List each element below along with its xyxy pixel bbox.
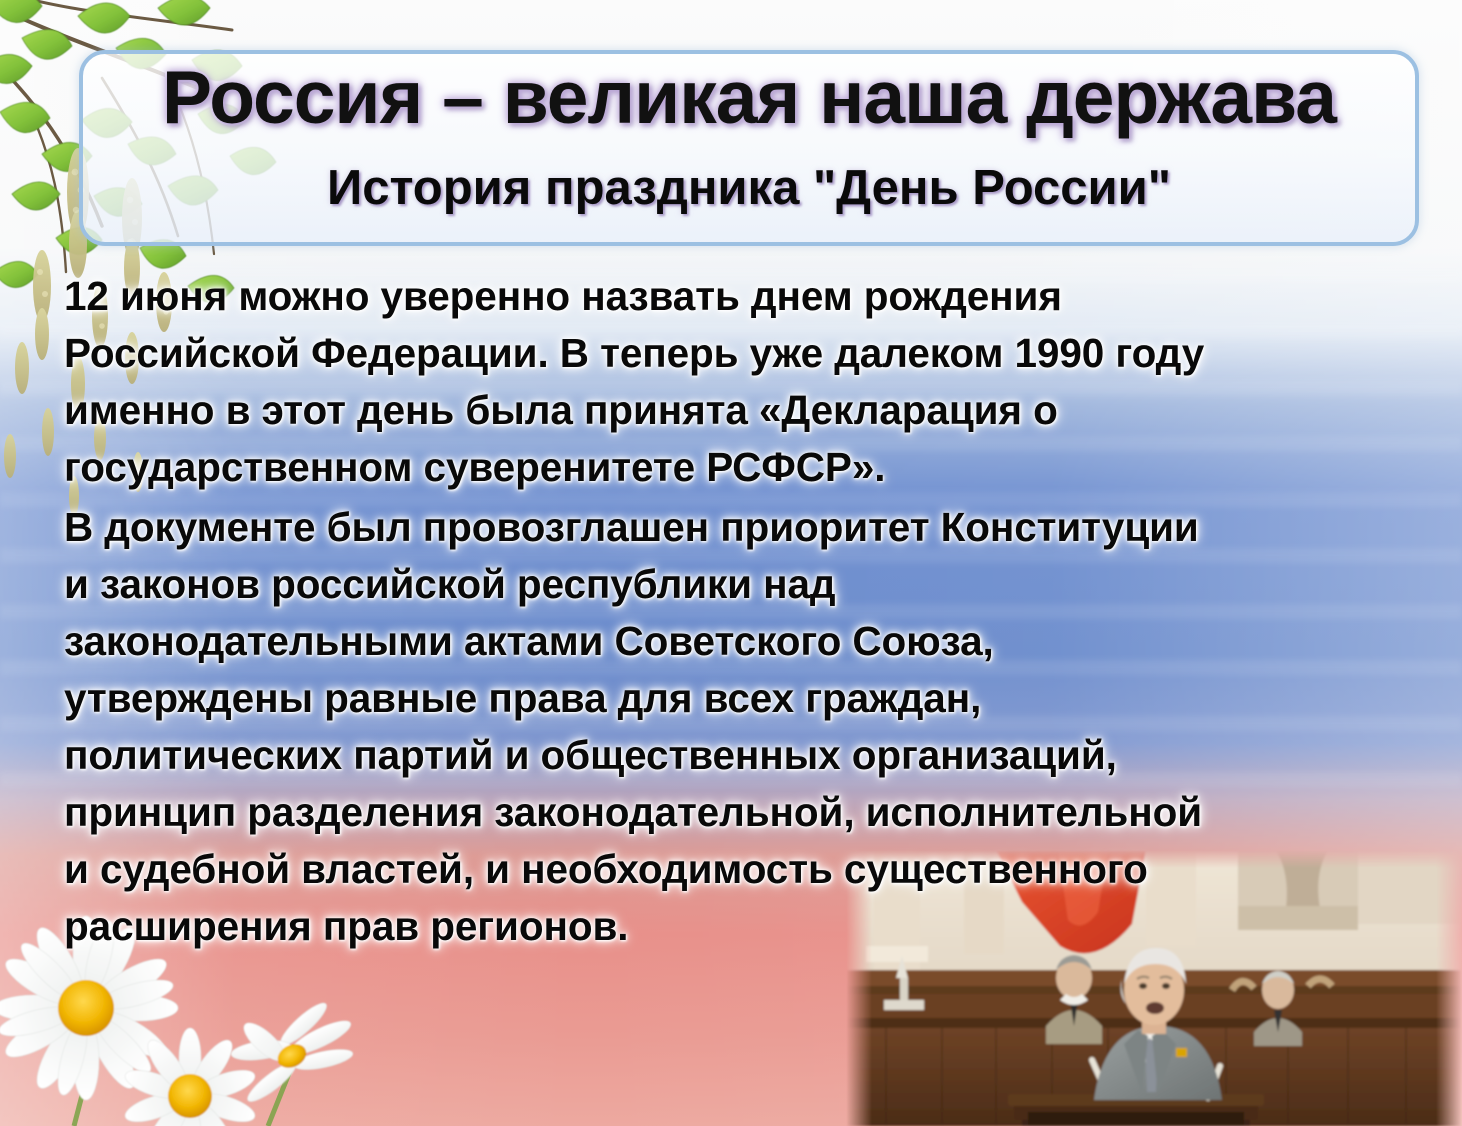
paragraph-1: 12 июня можно уверенно назвать днем рожд… — [64, 268, 1446, 496]
page-subtitle: История праздника "День России" — [79, 160, 1419, 216]
page-title: Россия – великая наша держава — [79, 54, 1419, 140]
presentation-slide: Россия – великая наша держава История пр… — [0, 0, 1462, 1126]
body-content: 12 июня можно уверенно назвать днем рожд… — [64, 268, 1446, 955]
paragraph-2: В документе был провозглашен приоритет К… — [64, 499, 1446, 955]
